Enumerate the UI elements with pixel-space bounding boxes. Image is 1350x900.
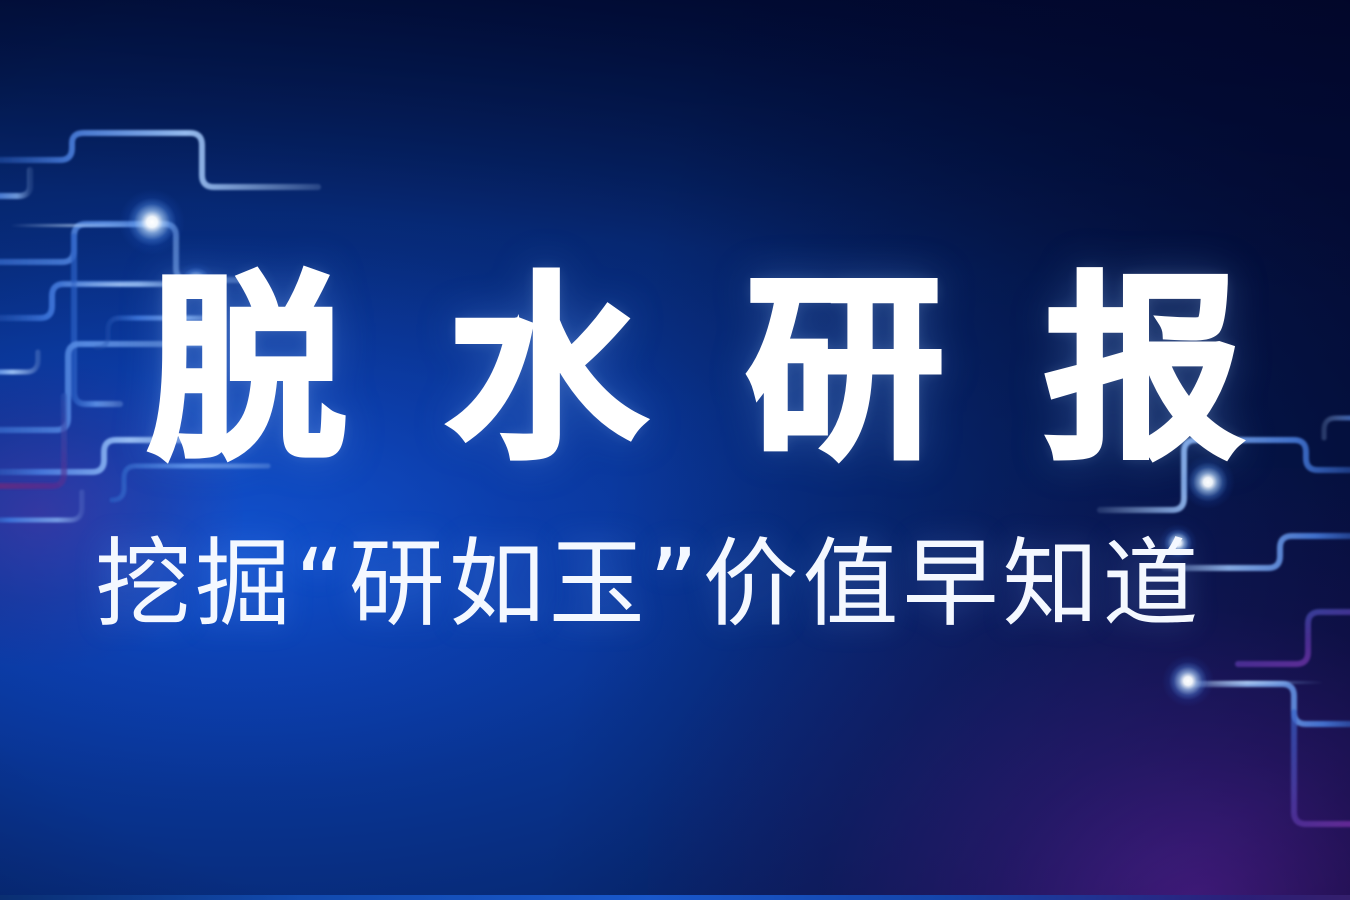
poster-title: 脱 水 研 报 bbox=[148, 272, 1208, 470]
poster-subtitle: 挖掘“研如玉”价值早知道 bbox=[95, 536, 1275, 632]
poster-canvas: 脱 水 研 报 挖掘“研如玉”价值早知道 bbox=[0, 0, 1350, 900]
poster-text-block: 脱 水 研 报 挖掘“研如玉”价值早知道 bbox=[0, 0, 1350, 900]
